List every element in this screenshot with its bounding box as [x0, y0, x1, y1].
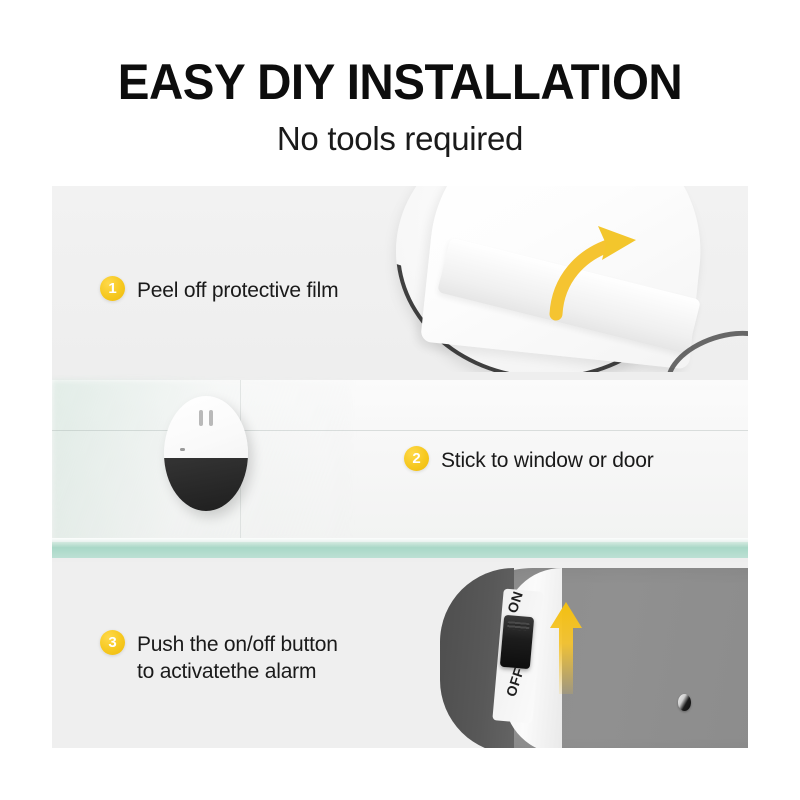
sensor-lower-housing	[164, 458, 248, 511]
step-1-badge: 1	[100, 276, 125, 301]
curved-arrow-up-right-icon	[540, 218, 650, 328]
onoff-slide-switch[interactable]	[500, 615, 534, 669]
step-3-badge: 3	[100, 630, 125, 655]
step-2-callout: 2 Stick to window or door	[404, 446, 654, 474]
page-title: EASY DIY INSTALLATION	[20, 0, 780, 110]
page-subtitle: No tools required	[0, 110, 800, 158]
sensor-led-indicator	[180, 448, 185, 451]
device-screw	[678, 694, 691, 711]
arrow-up-icon	[548, 602, 584, 694]
step-3-label: Push the on/off button to activatethe al…	[137, 630, 338, 685]
sensor-speaker-slot-left	[199, 410, 203, 426]
step-2-label: Stick to window or door	[441, 446, 654, 474]
sensor-device-icon	[164, 396, 248, 511]
step-2-badge: 2	[404, 446, 429, 471]
window-frame-line-horizontal	[52, 430, 748, 431]
step-3-callout: 3 Push the on/off button to activatethe …	[100, 630, 338, 685]
sensor-speaker-slot-right	[209, 410, 213, 426]
glass-shelf-edge	[52, 542, 748, 558]
step-1-callout: 1 Peel off protective film	[100, 276, 338, 304]
header: EASY DIY INSTALLATION No tools required	[0, 0, 800, 158]
step-1-label: Peel off protective film	[137, 276, 338, 304]
